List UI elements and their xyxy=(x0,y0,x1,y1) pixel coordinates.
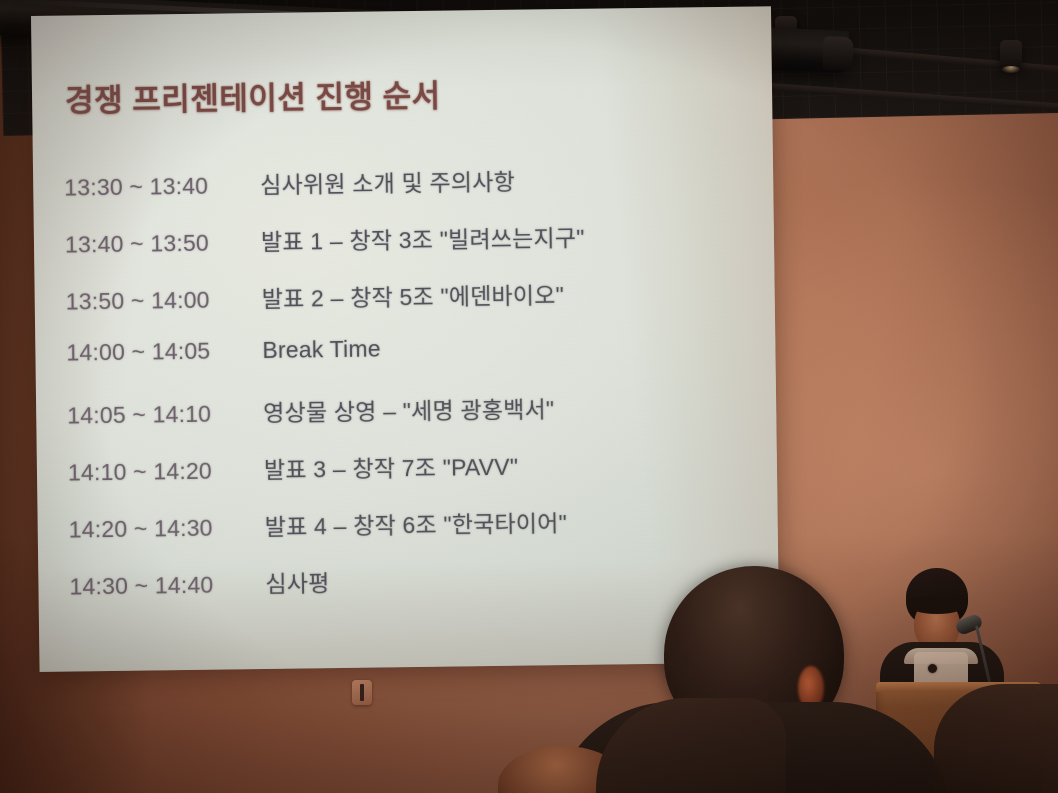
agenda-row-label: 발표 4 – 창작 6조 "한국타이어" xyxy=(264,504,567,542)
agenda-row-label: 발표 3 – 창작 7조 "PAVV" xyxy=(264,448,519,485)
agenda-row-label: 영상물 상영 – "세명 광홍백서" xyxy=(263,390,554,428)
agenda-row-label: 심사위원 소개 및 주의사항 xyxy=(260,163,515,200)
agenda-row-label: 심사평 xyxy=(265,564,330,599)
agenda-row: 13:30 ~ 13:40심사위원 소개 및 주의사항 xyxy=(64,160,744,226)
agenda-row-label: Break Time xyxy=(262,335,381,364)
agenda-row-label: 발표 1 – 창작 3조 "빌려쓰는지구" xyxy=(261,219,585,257)
track-light-icon xyxy=(1000,40,1022,70)
agenda-row: 14:10 ~ 14:20발표 3 – 창작 7조 "PAVV" xyxy=(68,445,748,511)
roller-end-cap xyxy=(822,36,853,71)
presenter-fringe xyxy=(908,596,966,614)
presentation-photo: 경쟁 프리젠테이션 진행 순서 13:30 ~ 13:40심사위원 소개 및 주… xyxy=(0,0,1058,793)
agenda-row-time: 13:40 ~ 13:50 xyxy=(65,229,261,259)
agenda-row-time: 14:20 ~ 14:30 xyxy=(69,514,265,544)
agenda-row-time: 14:00 ~ 14:05 xyxy=(66,337,262,367)
agenda-list: 13:30 ~ 13:40심사위원 소개 및 주의사항13:40 ~ 13:50… xyxy=(64,160,749,625)
slide-title: 경쟁 프리젠테이션 진행 순서 xyxy=(65,67,743,121)
agenda-row: 14:00 ~ 14:05Break Time xyxy=(66,331,746,397)
agenda-row: 14:05 ~ 14:10영상물 상영 – "세명 광홍백서" xyxy=(67,388,747,454)
agenda-row: 13:40 ~ 13:50발표 1 – 창작 3조 "빌려쓰는지구" xyxy=(65,217,745,283)
wall-switch-plate xyxy=(352,680,372,705)
agenda-row-time: 14:10 ~ 14:20 xyxy=(68,457,264,487)
agenda-row-label: 발표 2 – 창작 5조 "에덴바이오" xyxy=(261,276,564,314)
agenda-row: 13:50 ~ 14:00발표 2 – 창작 5조 "에덴바이오" xyxy=(65,274,745,340)
agenda-row-time: 14:30 ~ 14:40 xyxy=(69,571,265,601)
agenda-row-time: 13:30 ~ 13:40 xyxy=(64,172,260,202)
presenter-button xyxy=(928,664,937,673)
agenda-row-time: 13:50 ~ 14:00 xyxy=(66,286,262,316)
audience-member-bottom xyxy=(478,742,728,793)
agenda-row: 14:20 ~ 14:30발표 4 – 창작 6조 "한국타이어" xyxy=(68,502,748,568)
agenda-row-time: 14:05 ~ 14:10 xyxy=(67,400,263,430)
